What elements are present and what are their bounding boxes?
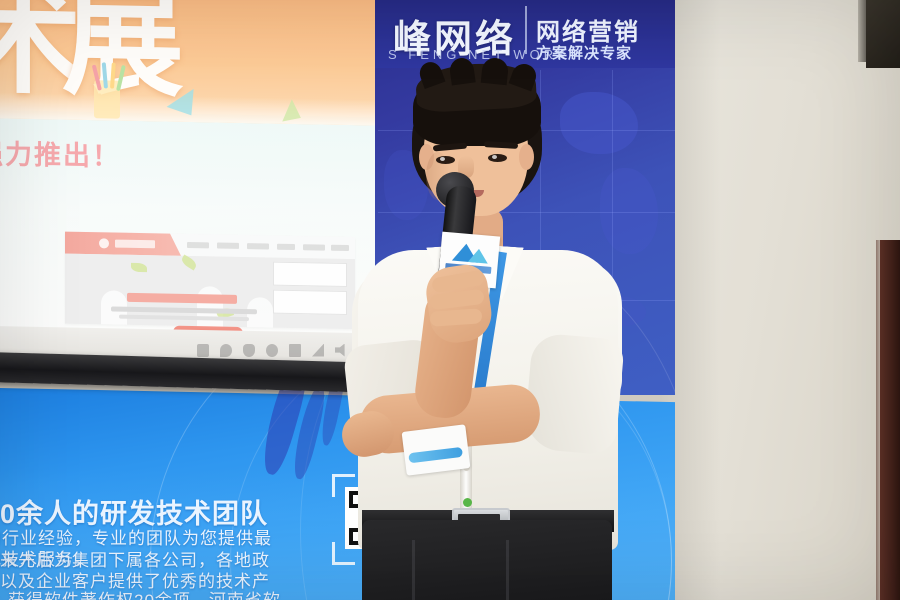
top-right-dark-object — [866, 0, 900, 68]
ear-right — [519, 144, 534, 170]
folder-icon[interactable] — [197, 344, 209, 357]
hair-spike — [481, 57, 510, 86]
mockup-logo-icon — [99, 238, 109, 248]
weather-icon[interactable] — [220, 344, 232, 357]
trouser-crease — [412, 540, 415, 600]
shield-icon[interactable] — [243, 344, 255, 357]
eye-right — [488, 154, 507, 162]
mockup-hero-headline — [127, 293, 237, 304]
mockup-brand-label — [115, 240, 155, 249]
mockup-hero-subtext — [111, 306, 257, 314]
trousers — [362, 520, 612, 600]
eye-left — [436, 156, 455, 164]
green-pin — [463, 498, 472, 507]
eye-highlight-right — [492, 155, 497, 159]
banner-body-line-6: 获得软件著作权20余项，河南省软 — [8, 586, 281, 600]
id-badge — [402, 424, 471, 475]
wooden-door-frame — [880, 240, 900, 600]
presentation-photo-scene: 峰网络 S FENG NET WORK 网络营销 方案解决专家 50余人的研发技… — [0, 0, 900, 600]
eye-highlight-left — [440, 157, 445, 161]
settings-icon[interactable] — [266, 344, 278, 357]
slide-subtext: 强力推出！ — [0, 132, 121, 174]
slide-headline-char-2: 展 — [62, 0, 184, 104]
trouser-crease — [506, 540, 509, 600]
presenter — [300, 60, 620, 600]
badge-stripe — [408, 447, 463, 464]
sleeve-right — [523, 332, 625, 456]
triangle-decoration — [278, 98, 301, 121]
banner-divider — [525, 6, 527, 54]
mountain-peak-logo-2 — [468, 248, 489, 264]
hair-spike — [448, 56, 475, 85]
